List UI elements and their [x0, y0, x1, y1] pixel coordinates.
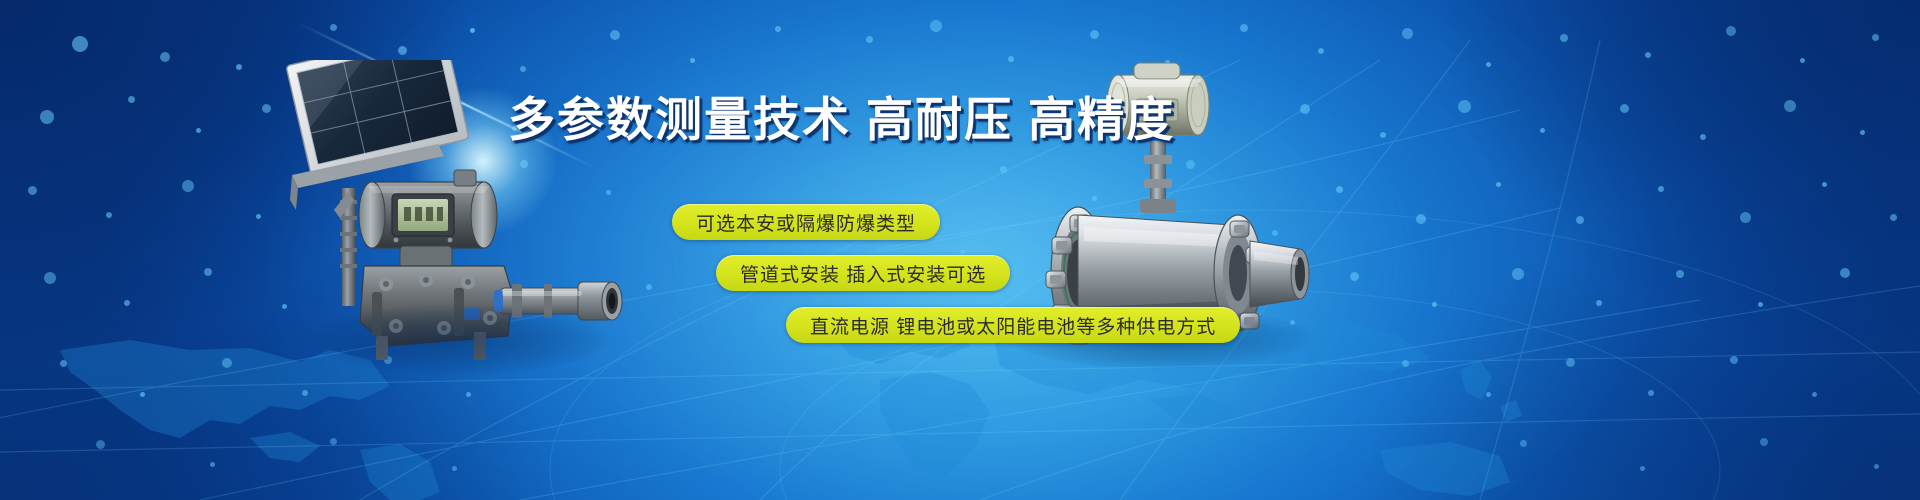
feature-pill-power-supply[interactable]: 直流电源 锂电池或太阳能电池等多种供电方式 [786, 307, 1240, 343]
feature-pill-installation[interactable]: 管道式安装 插入式安装可选 [716, 255, 1010, 291]
feature-pill-explosion-proof[interactable]: 可选本安或隔爆防爆类型 [672, 204, 940, 240]
promo-banner: 多参数测量技术 高耐压 高精度 可选本安或隔爆防爆类型 管道式安装 插入式安装可… [0, 0, 1920, 500]
page-title: 多参数测量技术 高耐压 高精度 [508, 96, 1175, 143]
product-shadow-left [308, 305, 608, 375]
